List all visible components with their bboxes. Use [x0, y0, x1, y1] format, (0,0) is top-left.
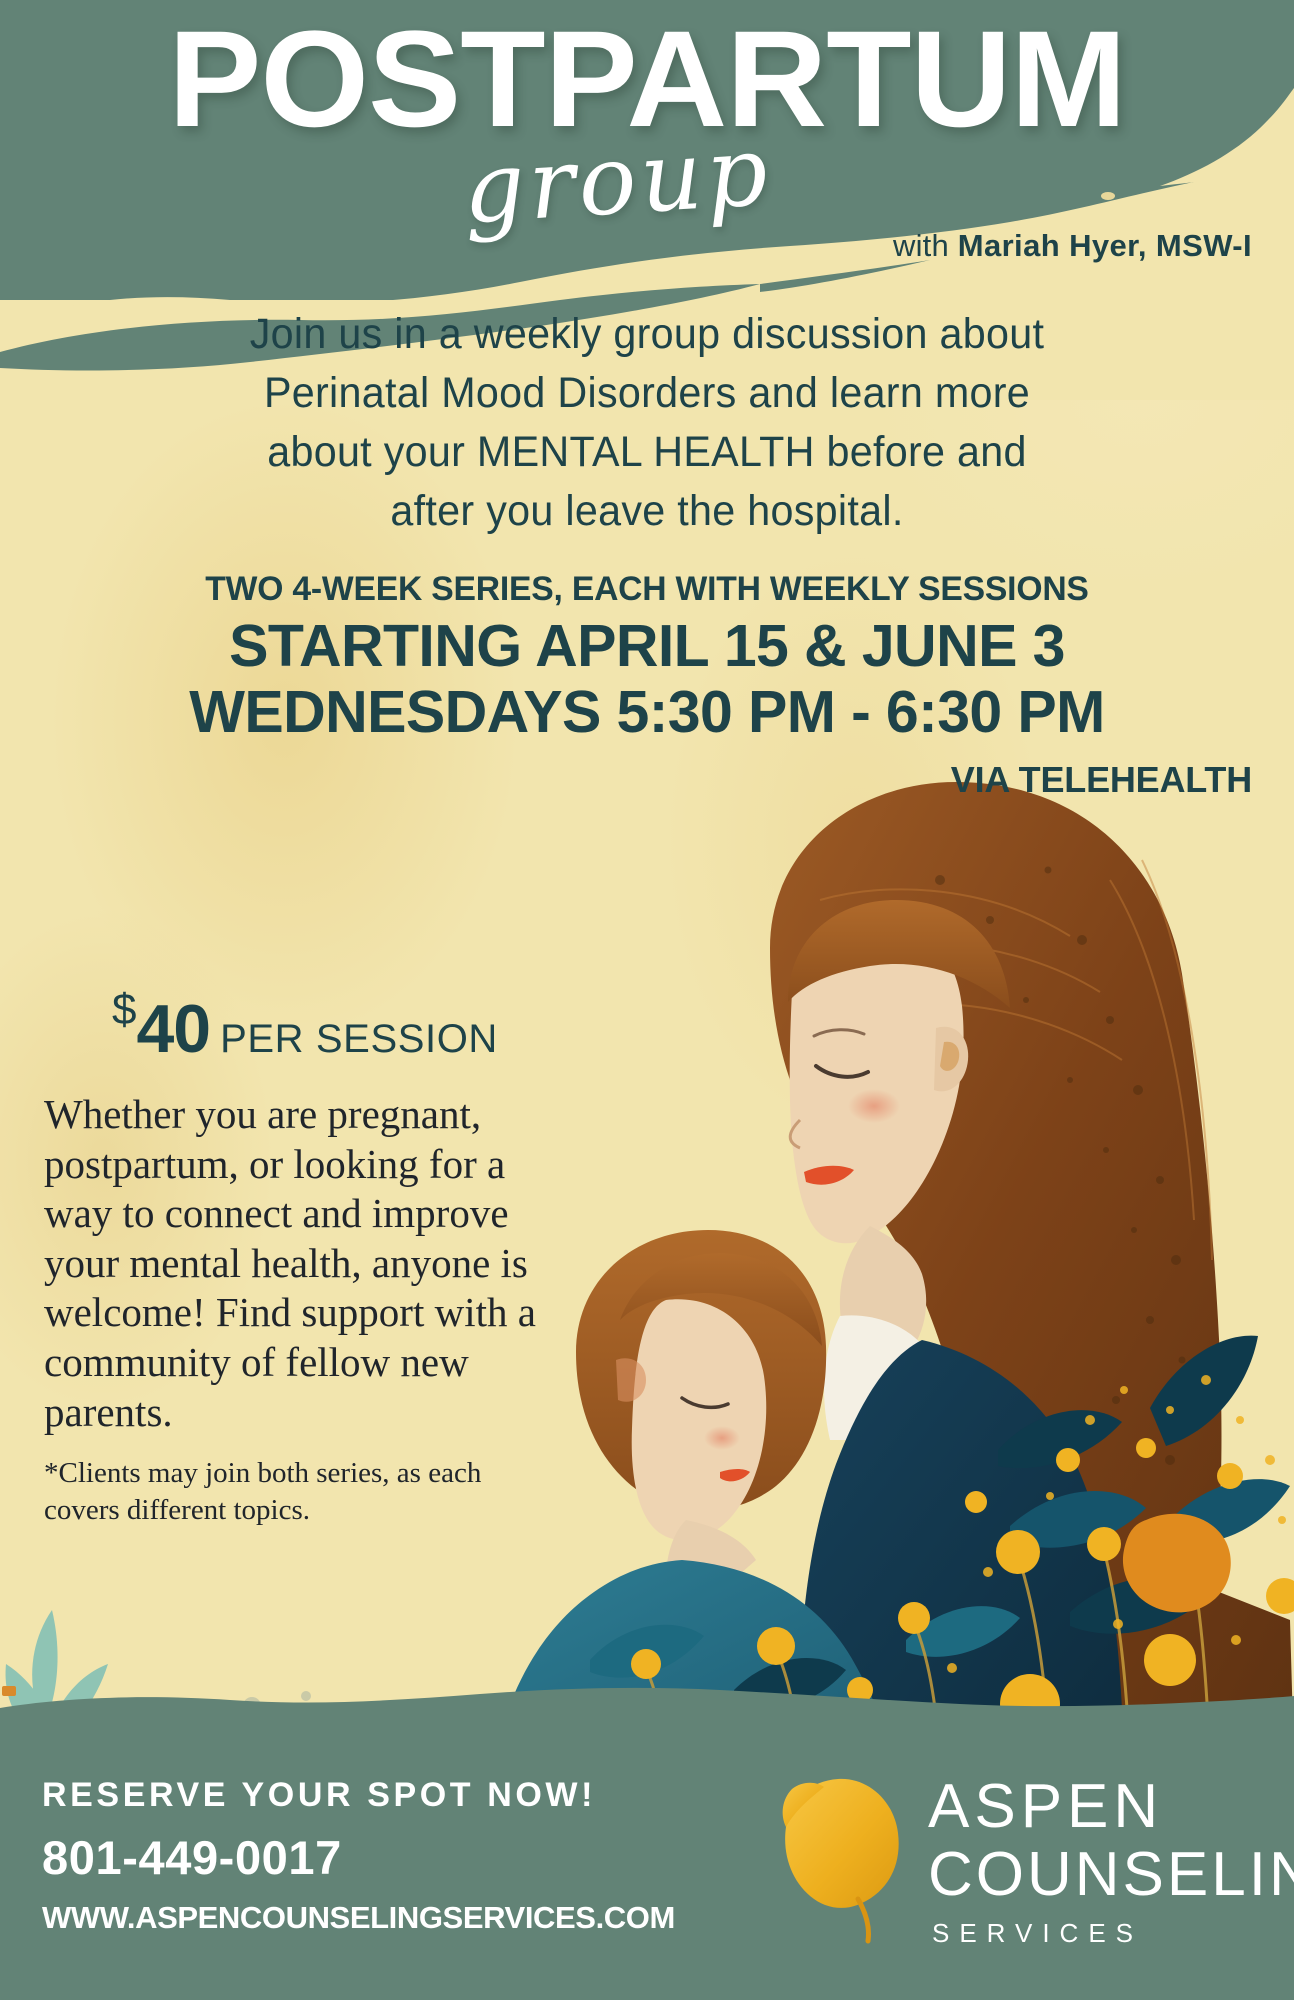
- price-block: $40PER SESSION: [112, 985, 498, 1068]
- schedule-block: TWO 4-WEEK SERIES, EACH WITH WEEKLY SESS…: [0, 570, 1294, 801]
- intro-line-4: after you leave the hospital.: [85, 482, 1208, 541]
- logo-line-services: SERVICES: [928, 1920, 1294, 1946]
- mother-and-child-illustration: [470, 760, 1294, 1760]
- title-script-word: group: [461, 132, 774, 227]
- intro-line-2: Perinatal Mood Disorders and learn more: [85, 364, 1208, 423]
- footer-cta: RESERVE YOUR SPOT NOW!: [42, 1776, 596, 1815]
- schedule-kicker: TWO 4-WEEK SERIES, EACH WITH WEEKLY SESS…: [6, 570, 1287, 609]
- byline: with Mariah Hyer, MSW-I: [893, 228, 1252, 264]
- price-amount: 40: [136, 991, 210, 1067]
- body-footnote: *Clients may join both series, as each c…: [44, 1455, 564, 1529]
- logo-line-counseling: COUNSELING: [928, 1844, 1294, 1906]
- aspen-counseling-logo: ASPEN COUNSELING SERVICES: [776, 1766, 1256, 1956]
- logo-wordmark: ASPEN COUNSELING SERVICES: [928, 1776, 1294, 1946]
- intro-line-1: Join us in a weekly group discussion abo…: [85, 305, 1208, 364]
- footer-phone[interactable]: 801-449-0017: [42, 1830, 342, 1885]
- intro-line-3: about your MENTAL HEALTH before and: [85, 423, 1208, 482]
- aspen-leaf-icon: [776, 1771, 906, 1951]
- poster: POSTPARTUM group with Mariah Hyer, MSW-I…: [0, 0, 1294, 2000]
- price-unit: PER SESSION: [220, 1017, 498, 1061]
- footer-website[interactable]: WWW.ASPENCOUNSELINGSERVICES.COM: [42, 1900, 675, 1936]
- footer-bar: RESERVE YOUR SPOT NOW! 801-449-0017 WWW.…: [0, 1732, 1294, 2000]
- byline-presenter-name: Mariah Hyer, MSW-I: [958, 228, 1252, 263]
- intro-paragraph: Join us in a weekly group discussion abo…: [0, 305, 1294, 541]
- schedule-time: WEDNESDAYS 5:30 PM - 6:30 PM: [0, 681, 1294, 745]
- logo-line-aspen: ASPEN: [928, 1776, 1294, 1838]
- schedule-start-dates: STARTING APRIL 15 & JUNE 3: [0, 615, 1294, 679]
- schedule-modality: VIA TELEHEALTH: [0, 759, 1294, 801]
- body-paragraph: Whether you are pregnant, postpartum, or…: [44, 1090, 564, 1437]
- byline-prefix: with: [893, 228, 958, 263]
- title-block: POSTPARTUM group: [0, 14, 1294, 218]
- price-currency-symbol: $: [112, 985, 136, 1034]
